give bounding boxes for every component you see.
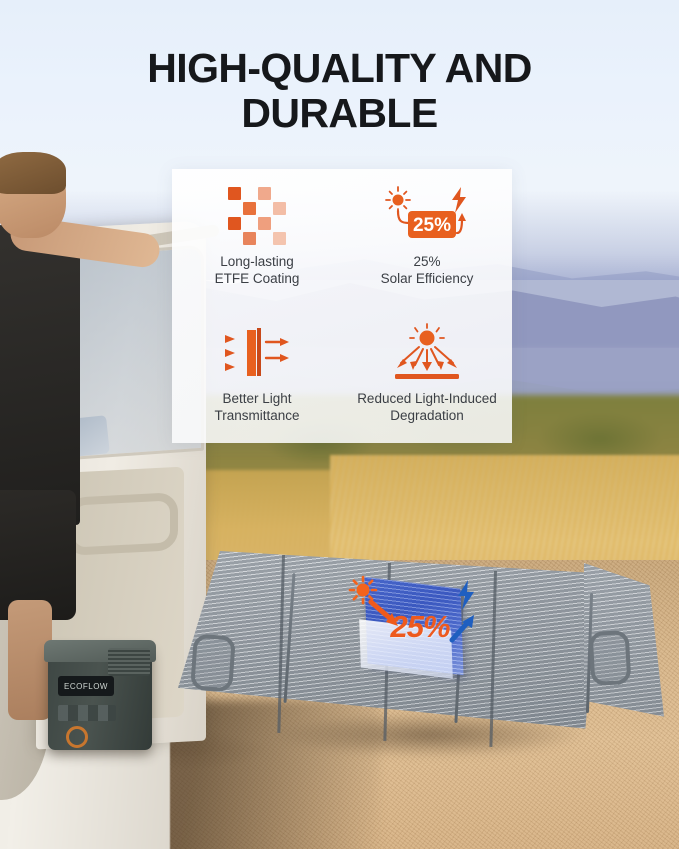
- person-torso: [0, 225, 80, 525]
- feature-grid: Long-lasting ETFE Coating: [172, 169, 512, 443]
- feature-label-solar-efficiency: 25% Solar Efficiency: [381, 253, 474, 287]
- product-marketing-image: ECOFLOW 25%: [0, 0, 679, 849]
- svg-text:25%: 25%: [413, 215, 451, 236]
- feature-label-line-2: Solar Efficiency: [381, 270, 474, 287]
- power-station-buttons: [58, 705, 116, 721]
- headline-line-2: DURABLE: [0, 91, 679, 136]
- feature-label-line-1: Reduced Light-Induced: [357, 390, 497, 407]
- person-hair: [0, 152, 66, 194]
- solar-efficiency-icon: 25%: [381, 185, 473, 247]
- lightning-bolt-icon: [454, 579, 478, 611]
- feature-label-line-1: Long-lasting: [215, 253, 300, 270]
- feature-label-etfe-coating: Long-lasting ETFE Coating: [215, 253, 300, 287]
- feature-item-etfe-coating: Long-lasting ETFE Coating: [172, 169, 342, 306]
- panel-carry-handle: [589, 630, 632, 686]
- feature-item-light-induced-degradation: Reduced Light-Induced Degradation: [342, 306, 512, 443]
- headline-line-1: HIGH-QUALITY AND: [0, 46, 679, 91]
- panel-efficiency-badge: 25%: [348, 573, 478, 693]
- power-station-display: ECOFLOW: [58, 676, 114, 696]
- folding-solar-panel: 25%: [170, 545, 670, 760]
- arrow-up-right-icon: [448, 613, 476, 643]
- feature-item-light-transmittance: Better Light Transmittance: [172, 306, 342, 443]
- feature-label-line-1: 25%: [381, 253, 474, 270]
- feature-item-solar-efficiency: 25% 25% Solar Efficiency: [342, 169, 512, 306]
- light-induced-degradation-icon: [385, 322, 469, 384]
- door-grab-handle: [66, 492, 178, 556]
- arrow-down-right-icon: [368, 599, 402, 629]
- power-station-ac-port: [66, 726, 88, 748]
- feature-label-line-2: Degradation: [357, 407, 497, 424]
- feature-label-line-2: ETFE Coating: [215, 270, 300, 287]
- feature-label-light-induced-degradation: Reduced Light-Induced Degradation: [357, 390, 497, 424]
- etfe-checkerboard-icon: [228, 185, 286, 247]
- power-station-vent: [108, 648, 150, 676]
- page-title: HIGH-QUALITY AND DURABLE: [0, 46, 679, 136]
- light-transmittance-icon: [219, 322, 295, 384]
- feature-label-line-2: Transmittance: [214, 407, 299, 424]
- feature-label-line-1: Better Light: [214, 390, 299, 407]
- panel-carry-handle: [190, 634, 236, 693]
- power-station-display-text: ECOFLOW: [64, 682, 108, 691]
- feature-label-light-transmittance: Better Light Transmittance: [214, 390, 299, 424]
- feature-card: Long-lasting ETFE Coating: [172, 169, 512, 443]
